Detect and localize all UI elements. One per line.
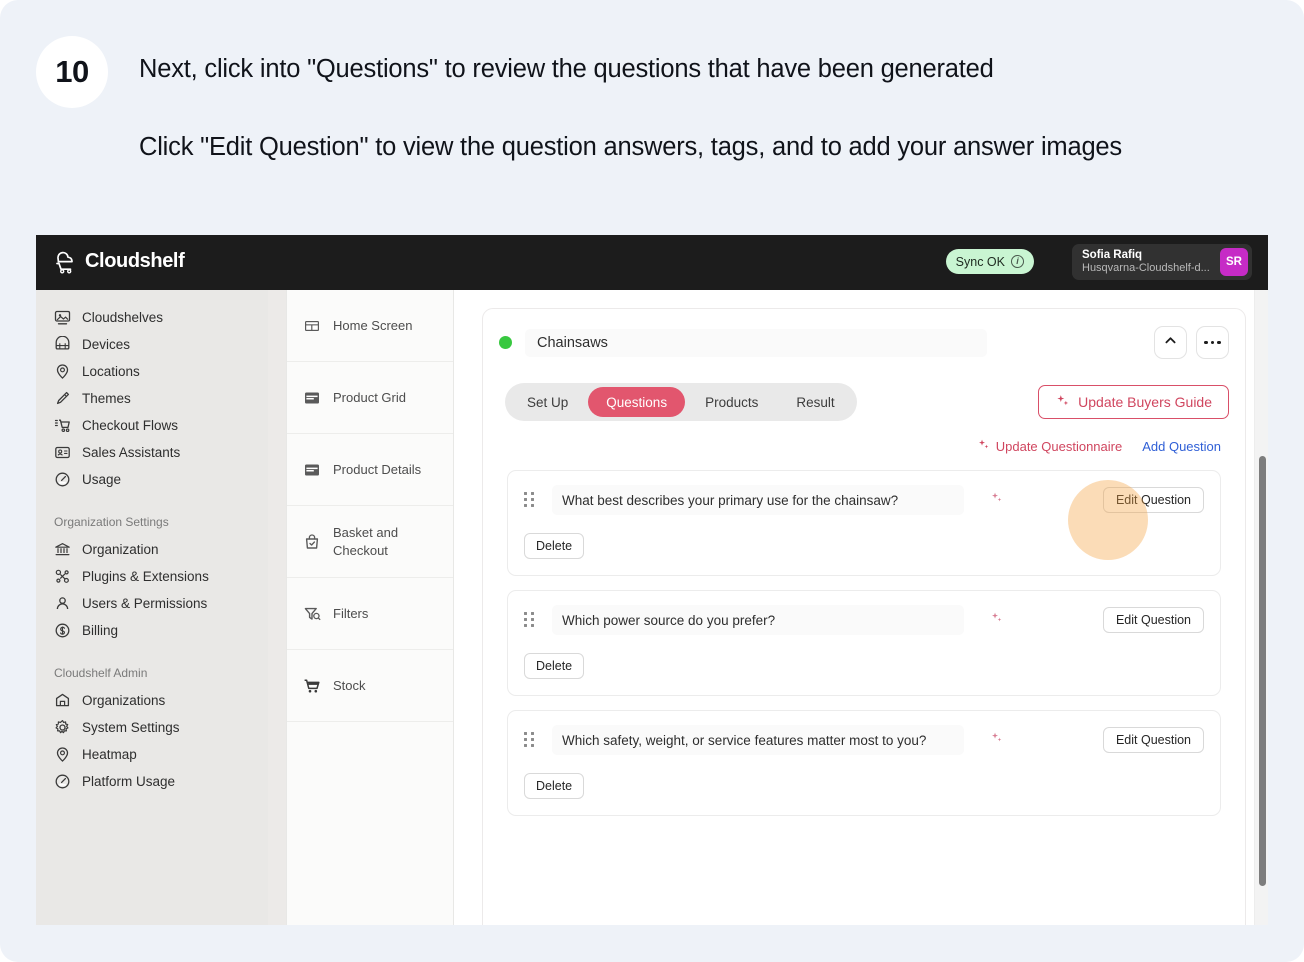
buyers-guide-title-input[interactable]: Chainsaws	[525, 329, 987, 357]
sidebar-item-devices[interactable]: Devices	[36, 331, 268, 358]
chevron-up-icon	[1163, 333, 1178, 353]
subnav-item-label: Stock	[333, 677, 366, 695]
gear-icon	[54, 719, 71, 736]
question-text-input[interactable]: Which safety, weight, or service feature…	[552, 725, 964, 755]
subnav-item-basket-and-checkout[interactable]: Basket and Checkout	[287, 506, 453, 578]
update-questionnaire-link[interactable]: Update Questionnaire	[977, 438, 1122, 454]
app-header: Cloudshelf Sync OK i Sofia Rafiq Husqvar…	[36, 235, 1268, 290]
vertical-scrollbar-track[interactable]	[1254, 290, 1268, 925]
collapse-button[interactable]	[1154, 326, 1187, 359]
card-header: Chainsaws	[483, 309, 1245, 359]
subnav-item-label: Home Screen	[333, 317, 412, 335]
gauge-icon	[54, 471, 71, 488]
sidebar-item-organization[interactable]: Organization	[36, 536, 268, 563]
sparkle-icon	[1055, 393, 1070, 411]
subnav-item-label: Filters	[333, 605, 368, 623]
add-question-link[interactable]: Add Question	[1142, 439, 1221, 454]
sidebar-item-label: Devices	[82, 337, 130, 352]
plugins-icon	[54, 568, 71, 585]
basket-icon	[303, 533, 321, 551]
gauge-icon	[54, 773, 71, 790]
subnav-item-product-details[interactable]: Product Details	[287, 434, 453, 506]
delete-question-button[interactable]: Delete	[524, 773, 584, 799]
subnav-item-label: Product Details	[333, 461, 421, 479]
status-dot	[499, 336, 512, 349]
sidebar-item-label: Organization	[82, 542, 159, 557]
subnav-item-product-grid[interactable]: Product Grid	[287, 362, 453, 434]
primary-sidebar: Cloudshelves Devices Locations	[36, 290, 268, 925]
dollar-circle-icon	[54, 622, 71, 639]
sparkle-icon[interactable]	[990, 611, 1003, 629]
question-card: Which power source do you prefer? Edit Q…	[507, 590, 1221, 696]
drag-handle-icon[interactable]	[524, 732, 536, 748]
sidebar-item-label: Sales Assistants	[82, 445, 180, 460]
tabs-row: Set Up Questions Products Result Update …	[483, 359, 1245, 421]
sync-status-badge[interactable]: Sync OK i	[946, 249, 1034, 274]
sidebar-gutter	[268, 290, 286, 925]
questions-list: What best describes your primary use for…	[483, 454, 1245, 816]
sidebar-item-label: Organizations	[82, 693, 165, 708]
question-text-input[interactable]: What best describes your primary use for…	[552, 485, 964, 515]
more-options-button[interactable]	[1196, 326, 1229, 359]
delete-question-button[interactable]: Delete	[524, 653, 584, 679]
sidebar-item-label: Cloudshelves	[82, 310, 163, 325]
question-card: Which safety, weight, or service feature…	[507, 710, 1221, 816]
sparkle-icon[interactable]	[990, 731, 1003, 749]
subnav-item-label: Product Grid	[333, 389, 406, 407]
avatar[interactable]: SR	[1220, 248, 1248, 276]
sidebar-item-label: System Settings	[82, 720, 180, 735]
sparkle-icon[interactable]	[990, 491, 1003, 509]
sidebar-item-label: Heatmap	[82, 747, 137, 762]
ellipsis-icon	[1204, 341, 1221, 345]
sidebar-item-themes[interactable]: Themes	[36, 385, 268, 412]
store-icon	[54, 692, 71, 709]
profile-info: Sofia Rafiq Husqvarna-Cloudshelf-d...	[1072, 248, 1220, 276]
update-buyers-guide-label: Update Buyers Guide	[1078, 394, 1212, 410]
sidebar-section-cloudshelf-admin: Cloudshelf Admin	[36, 666, 268, 680]
sidebar-item-label: Platform Usage	[82, 774, 175, 789]
sidebar-item-label: Billing	[82, 623, 118, 638]
sidebar-item-label: Themes	[82, 391, 131, 406]
cloudshelf-cart-logo-icon	[52, 248, 78, 274]
sidebar-item-platform-usage[interactable]: Platform Usage	[36, 768, 268, 795]
question-actions-row: Update Questionnaire Add Question	[483, 421, 1245, 454]
sparkle-icon	[977, 438, 990, 454]
delete-question-button[interactable]: Delete	[524, 533, 584, 559]
profile-organization: Husqvarna-Cloudshelf-d...	[1082, 262, 1220, 276]
card-header-buttons	[1154, 326, 1229, 359]
question-row: Which safety, weight, or service feature…	[524, 725, 1204, 755]
sidebar-item-system-settings[interactable]: System Settings	[36, 714, 268, 741]
instruction-line-2: Click "Edit Question" to view the questi…	[139, 130, 1269, 165]
info-icon[interactable]: i	[1011, 255, 1024, 268]
sidebar-item-locations[interactable]: Locations	[36, 358, 268, 385]
cloudshelf-screen-icon	[54, 309, 71, 326]
sidebar-item-users-permissions[interactable]: Users & Permissions	[36, 590, 268, 617]
edit-question-button[interactable]: Edit Question	[1103, 727, 1204, 753]
sidebar-item-label: Users & Permissions	[82, 596, 207, 611]
instruction-text: Next, click into "Questions" to review t…	[139, 52, 1269, 166]
sidebar-item-sales-assistants[interactable]: Sales Assistants	[36, 439, 268, 466]
app-screenshot: Cloudshelf Sync OK i Sofia Rafiq Husqvar…	[36, 235, 1268, 925]
edit-question-button[interactable]: Edit Question	[1103, 487, 1204, 513]
tab-result[interactable]: Result	[778, 387, 852, 417]
app-logo-text: Cloudshelf	[85, 250, 184, 273]
subnav-item-filters[interactable]: Filters	[287, 578, 453, 650]
step-number-badge: 10	[36, 36, 108, 108]
sidebar-item-label: Locations	[82, 364, 140, 379]
sidebar-item-billing[interactable]: Billing	[36, 617, 268, 644]
device-icon	[54, 336, 71, 353]
instruction-block: 10 Next, click into "Questions" to revie…	[0, 0, 1304, 228]
sidebar-section-organization-settings: Organization Settings	[36, 515, 268, 529]
sidebar-item-checkout-flows[interactable]: Checkout Flows	[36, 412, 268, 439]
subnav-item-home-screen[interactable]: Home Screen	[287, 290, 453, 362]
subnav-item-stock[interactable]: Stock	[287, 650, 453, 722]
grid-card-icon	[303, 389, 321, 407]
cart-icon	[303, 677, 321, 695]
bank-icon	[54, 541, 71, 558]
sidebar-item-cloudshelves[interactable]: Cloudshelves	[36, 304, 268, 331]
edit-question-button[interactable]: Edit Question	[1103, 607, 1204, 633]
tab-set-up[interactable]: Set Up	[509, 387, 586, 417]
user-profile-menu[interactable]: Sofia Rafiq Husqvarna-Cloudshelf-d... SR	[1072, 244, 1252, 280]
tab-products[interactable]: Products	[687, 387, 776, 417]
filter-funnel-icon	[303, 605, 321, 623]
checkout-cart-icon	[54, 417, 71, 434]
sidebar-item-label: Checkout Flows	[82, 418, 178, 433]
instruction-line-1: Next, click into "Questions" to review t…	[139, 52, 1269, 86]
brush-icon	[54, 390, 71, 407]
main-content: Chainsaws	[454, 290, 1268, 925]
secondary-nav: Home Screen Product Grid Product Details	[286, 290, 454, 925]
location-pin-icon	[54, 363, 71, 380]
app-logo[interactable]: Cloudshelf	[52, 248, 184, 274]
layout-icon	[303, 317, 321, 335]
sidebar-item-label: Usage	[82, 472, 121, 487]
update-buyers-guide-button[interactable]: Update Buyers Guide	[1038, 385, 1229, 419]
sidebar-item-plugins-extensions[interactable]: Plugins & Extensions	[36, 563, 268, 590]
id-card-icon	[54, 444, 71, 461]
drag-handle-icon[interactable]	[524, 492, 536, 508]
sidebar-item-usage[interactable]: Usage	[36, 466, 268, 493]
tutorial-page: 10 Next, click into "Questions" to revie…	[0, 0, 1304, 962]
subnav-item-label: Basket and Checkout	[333, 524, 445, 559]
sync-status-label: Sync OK	[956, 255, 1005, 269]
question-text-input[interactable]: Which power source do you prefer?	[552, 605, 964, 635]
question-row: Which power source do you prefer? Edit Q…	[524, 605, 1204, 635]
tab-bar: Set Up Questions Products Result	[505, 383, 857, 421]
app-body: Cloudshelves Devices Locations	[36, 290, 1268, 925]
vertical-scrollbar-thumb[interactable]	[1259, 456, 1266, 886]
location-pin-icon	[54, 746, 71, 763]
question-row: What best describes your primary use for…	[524, 485, 1204, 515]
tab-questions[interactable]: Questions	[588, 387, 685, 417]
details-card-icon	[303, 461, 321, 479]
sidebar-item-organizations[interactable]: Organizations	[36, 687, 268, 714]
sidebar-item-label: Plugins & Extensions	[82, 569, 209, 584]
user-icon	[54, 595, 71, 612]
sidebar-item-heatmap[interactable]: Heatmap	[36, 741, 268, 768]
question-card: What best describes your primary use for…	[507, 470, 1221, 576]
update-questionnaire-label: Update Questionnaire	[996, 439, 1122, 454]
profile-name: Sofia Rafiq	[1082, 248, 1220, 262]
buyers-guide-card: Chainsaws	[482, 308, 1246, 925]
drag-handle-icon[interactable]	[524, 612, 536, 628]
